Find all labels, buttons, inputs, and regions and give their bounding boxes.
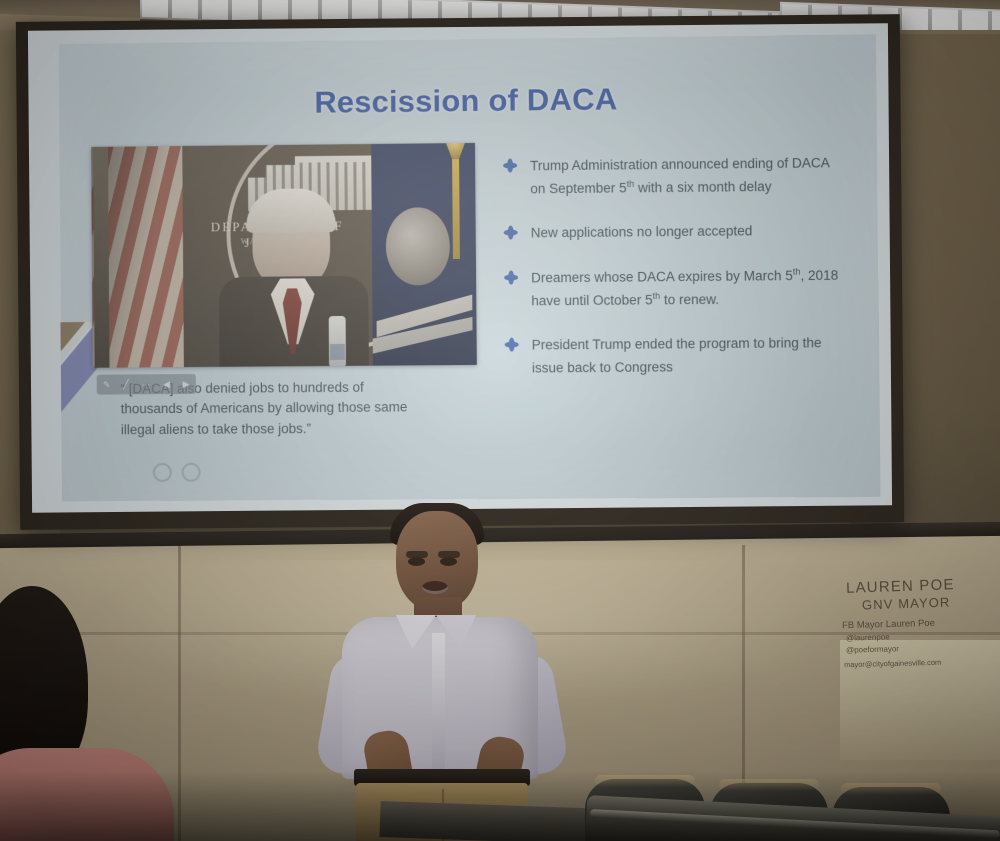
photo-water-bottle	[329, 316, 346, 366]
lecture-hall-photo: LAUREN POE GNV MAYOR FB Mayor Lauren Poe…	[0, 0, 1000, 841]
slide-bullet-item: Dreamers whose DACA expires by March 5th…	[504, 263, 844, 312]
slide-bullet-item: Trump Administration announced ending of…	[503, 151, 843, 201]
whiteboard-line-title: GNV MAYOR	[862, 594, 951, 612]
projection-screen: Rescission of DACA DEPARTMENT OF JUSTICE…	[28, 23, 892, 512]
whiteboard-line-handle-2: @poeformayor	[846, 644, 899, 654]
photo-speaker-figure	[218, 196, 369, 367]
powerpoint-slide: Rescission of DACA DEPARTMENT OF JUSTICE…	[59, 34, 881, 501]
slide-bullet-text: New applications no longer accepted	[531, 220, 753, 245]
slide-bullet-item: New applications no longer accepted	[504, 219, 844, 245]
photo-doj-flag	[371, 143, 477, 366]
flag-finial	[446, 143, 465, 159]
slide-bullet-item: President Trump ended the program to bri…	[505, 331, 845, 380]
presenter-eye-right	[440, 557, 457, 566]
diamond-bullet-icon	[505, 338, 519, 352]
photo-us-flag	[91, 146, 184, 368]
slide-photo: DEPARTMENT OF JUSTICE WASHINGTON	[91, 143, 477, 368]
slide-bullet-text: President Trump ended the program to bri…	[532, 331, 845, 380]
next-slide-icon[interactable]: ▶	[183, 379, 190, 388]
bottom-vignette	[0, 771, 1000, 841]
zoom-in-icon[interactable]	[182, 462, 201, 481]
slideshow-zoom-controls[interactable]	[153, 461, 213, 483]
flag-pole	[452, 143, 460, 259]
slideshow-toolbar[interactable]: ✎ ╱ ··· ◀ ▶	[97, 374, 196, 395]
presenter-shirt-placket	[432, 633, 445, 779]
presenter-mouth	[422, 581, 448, 594]
diamond-bullet-icon	[503, 158, 517, 172]
flag-seal	[386, 207, 451, 286]
slide-bullet-list: Trump Administration announced ending of…	[503, 151, 845, 401]
whiteboard-line-handle-1: @laurenpoe	[846, 632, 890, 642]
diamond-bullet-icon	[504, 270, 518, 284]
previous-slide-icon[interactable]: ◀	[163, 380, 170, 389]
slide-bullet-text: Trump Administration announced ending of…	[530, 151, 843, 201]
presenter-eye-left	[408, 557, 425, 566]
more-dots-icon[interactable]: ···	[141, 380, 150, 389]
slide-bullet-text: Dreamers whose DACA expires by March 5th…	[531, 263, 844, 312]
pen-icon[interactable]: ✎	[103, 380, 111, 389]
highlighter-icon[interactable]: ╱	[123, 380, 128, 389]
diamond-bullet-icon	[504, 226, 518, 240]
slide-title: Rescission of DACA	[59, 78, 877, 123]
zoom-out-icon[interactable]	[153, 462, 172, 481]
